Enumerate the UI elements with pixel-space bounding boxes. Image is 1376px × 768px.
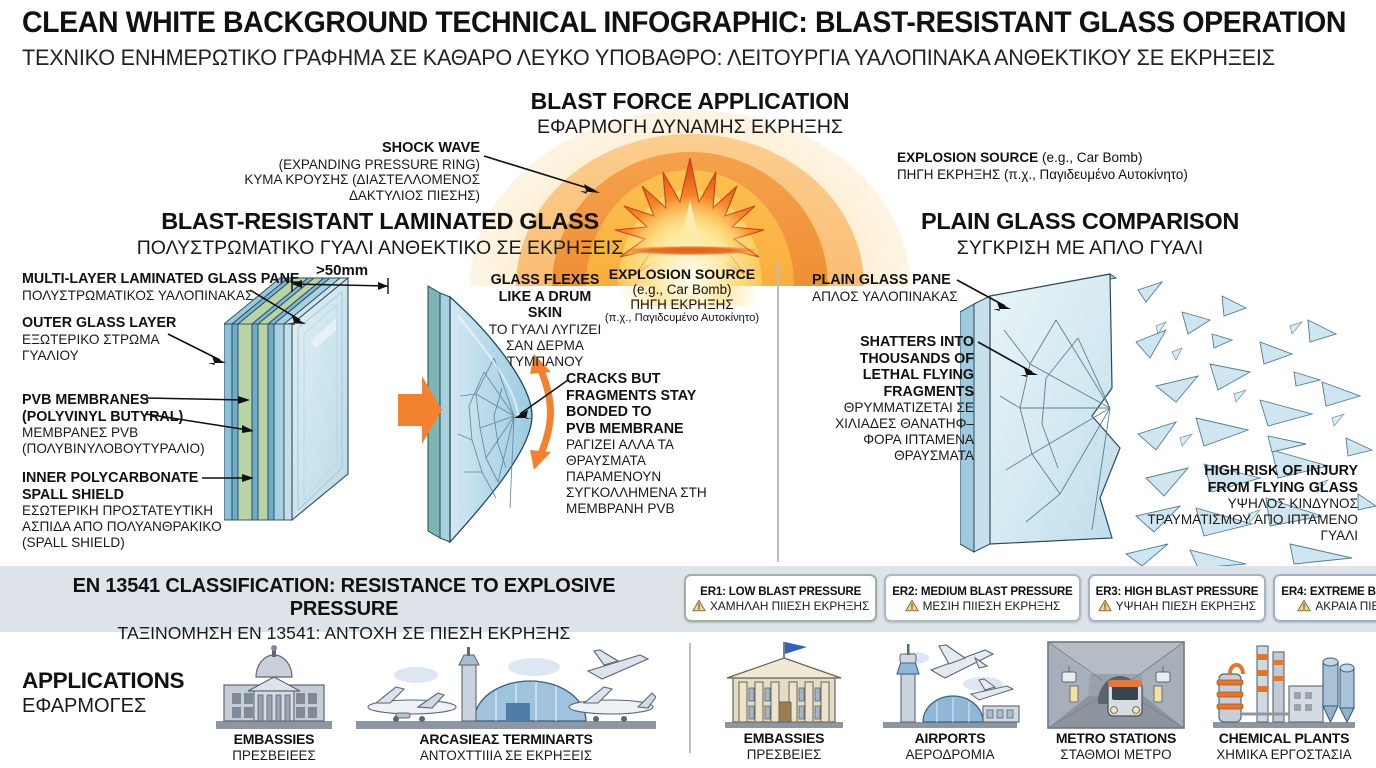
callout-glass-flexes: GLASS FLEXES LIKE A DRUM SKIN ΤΟ ΓΥΑΛΙ Λ… — [481, 272, 609, 370]
application-item-airports[interactable]: AIRPORTS ΑΕΡΟΔΡΟΜΙΑ — [872, 640, 1028, 762]
application-item-terminals[interactable]: ARCASIEAΣ TERMINARTS ΑΝΤΟΧΤΤΙΙΙΑ ΣΕ ΕΚΡΗ… — [348, 645, 664, 763]
application-caption-en: EMBASSIES — [706, 730, 862, 746]
callout-outer-el: ΕΞΩΤΕΡΙΚΟ ΣΤΡΩΜΑ ΓΥΑΛΙΟΥ — [22, 332, 252, 364]
callout-plainpane-en: PLAIN GLASS PANE — [812, 272, 1002, 289]
warning-triangle-icon — [1297, 599, 1311, 612]
application-caption-en: AIRPORTS — [872, 730, 1028, 746]
classification-chip-label-el: ΧΑΜΗΛΑΗ ΠΙΙΕΣΗ ΕΚΡΗΞΗΣ — [710, 599, 869, 613]
warning-triangle-icon — [905, 599, 919, 612]
classification-chip-label-el-row: ΑΚΡΑΙΑ ΠΙΕΣΗ ΕΚΡΗΣΗΕ — [1297, 599, 1376, 613]
classification-title: EN 13541 CLASSIFICATION: RESISTANCE TO E… — [24, 575, 664, 644]
blast-force-title: BLAST FORCE APPLICATION ΕΦΑΡΜΟΓΗ ΔΥΝΑΜΗΣ… — [470, 88, 910, 138]
plain-title-el: ΣΥΓΚΡΙΣΗ ΜΕ ΑΠΛΟ ΓΥΑΛΙ — [800, 237, 1360, 260]
application-caption-el: ΑΝΤΟΧΤΤΙΙΙΑ ΣΕ ΕΚΡΗΞΕΙΣ — [348, 748, 664, 763]
explosion-source-top-callout: EXPLOSION SOURCE (e.g., Car Bomb) ΠΗΓΗ Ε… — [897, 150, 1317, 182]
plain-section-title: PLAIN GLASS COMPARISON ΣΥΓΚΡΙΣΗ ΜΕ ΑΠΛΟ … — [800, 208, 1360, 260]
application-item-embassies-flag[interactable]: EMBASSIES ΠΡΕΣΒΕΙΕΣ — [706, 640, 862, 762]
callout-flex-en: GLASS FLEXES LIKE A DRUM SKIN — [481, 272, 609, 322]
embassy-flag-icon — [717, 640, 851, 730]
blast-force-title-en: BLAST FORCE APPLICATION — [470, 88, 910, 115]
explosion-source-mid-l4: (π.χ., Παγιδcυμένο Αυτοκίνητο) — [592, 312, 772, 324]
blast-force-title-el: ΕΦΑΡΜΟΓΗ ΔΥΝΑΜΗΣ ΕΚΡΗΞΗΣ — [470, 116, 910, 139]
application-item-embassies-dome[interactable]: EMBASSIES ΠΡΕΣΒΕΙΕΕΣ — [196, 645, 352, 763]
callout-shatters-el: ΘΡΥΜΜΑΤΙΖΕΤΑΙ ΣΕ ΧΙΛΙΑΔΕΣ ΘΑΝΑΤΗΦ– ΦΟΡΑ … — [812, 400, 974, 464]
callout-plainpane-el: ΑΠΛΟΣ ΥΑΛΟΠΙΝΑΚΑΣ — [812, 289, 1002, 305]
section-divider-vertical — [777, 262, 779, 562]
callout-inner-en: INNER POLYCARBONATE SPALL SHIELD — [22, 470, 252, 503]
callout-highrisk-en: HIGH RISK OF INJURY FROM FLYING GLASS — [1080, 463, 1358, 496]
shock-wave-en-sub: (EXPANDING PRESSURE RING) — [188, 157, 480, 173]
classification-chip-label-el-row: ΧΑΜΗΛΑΗ ΠΙΙΕΣΗ ΕΚΡΗΞΗΣ — [692, 599, 869, 613]
callout-cracks-bonded: CRACKS BUT FRAGMENTS STAY BONDED TO PVB … — [566, 371, 726, 517]
application-caption-en: ARCASIEAΣ TERMINARTS — [348, 731, 664, 747]
explosion-source-top-en-bold: EXPLOSION SOURCE — [897, 150, 1038, 165]
classification-chip-label-en: ER2: MEDIUM BLAST PRESSURE — [892, 585, 1072, 598]
footer-divider-vertical — [689, 643, 691, 753]
callout-multilayer-el: ΠΟΛΥΣΤΡΩΜΑΤΙΚΟΣ ΥΑΛΟΠΙΝΑΚΑΣ — [22, 288, 312, 304]
shock-wave-el: ΚΥΜΑ ΚΡΟΥΣΗΣ (ΔΙΑΣΤΕΛΛΟΜΕΝΟΣ ΔΑΚΤΥΛΙΟΣ Π… — [188, 172, 480, 203]
application-caption-el: ΑΕΡΟΔΡΟΜΙΑ — [872, 747, 1028, 762]
explosion-source-mid-l3: ΠΗΓΗ ΕΚΡΗΞΗΣ — [592, 297, 772, 312]
application-caption-el: ΧΗΜΙΚΑ ΕΡΓΟΣΤΑΣΙΑ — [1204, 747, 1364, 762]
explosion-source-top-el: ΠΗΓΗ ΕΚΡΗΞΗΣ (π.χ., Παγιδευμένο Αυτοκίνη… — [897, 167, 1317, 183]
chemical-plant-icon — [1209, 640, 1359, 730]
applications-title-el: ΕΦΑΡΜΟΓΕΣ — [22, 695, 222, 718]
classification-chip-er4[interactable]: ER4: EXTREME BLAST PRESSUREΑΚΡΑΙΑ ΠΙΕΣΗ … — [1273, 574, 1376, 622]
classification-chip-er2[interactable]: ER2: MEDIUM BLAST PRESSUREΜΕΣΙΗ ΠΙΙΕΣΗ Ε… — [884, 574, 1080, 622]
classification-chip-er3[interactable]: ER3: HIGH BLAST PRESSUREΥΨΗΑΗ ΠΙΕΣΗ ΕΚΡΗ… — [1088, 574, 1267, 622]
metro-tunnel-icon — [1046, 640, 1186, 730]
embassy-dome-icon — [210, 645, 338, 731]
callout-pvb-en: PVB MEMBRANES (POLYVINYL BUTYRAL) — [22, 392, 252, 425]
explosion-source-top-en-rest: (e.g., Car Bomb) — [1038, 150, 1142, 165]
callout-inner-spall-shield: INNER POLYCARBONATE SPALL SHIELD ΕΣΩΤΕΡΙ… — [22, 470, 252, 551]
infographic-canvas: CLEAN WHITE BACKGROUND TECHNICAL INFOGRA… — [0, 0, 1376, 768]
application-item-metro[interactable]: METRO STATIONS ΣΤΑΘΜΟΙ ΜΕΤΡΟ — [1038, 640, 1194, 762]
application-caption-en: CHEMICAL PLANTS — [1204, 730, 1364, 746]
callout-cracks-el: ΡΑΓΙΖΕΙ ΑΛΛΑ ΤΑ ΘΡΑΥΣΜΑΤΑ ΠΑΡΑΜΕΝΟΥΝ ΣΥΓ… — [566, 437, 726, 517]
callout-pvb-el: ΜΕΜΒΡΑΝΕΣ PVB (ΠΟΛΥΒΙΝΥΛΟΒΟΥΤΥΡΑΛΙΟ) — [22, 425, 252, 457]
classification-chip-list: ER1: LOW BLAST PRESSUREΧΑΜΗΛΑΗ ΠΙΙΕΣΗ ΕΚ… — [684, 574, 1372, 622]
callout-flex-el: ΤΟ ΓΥΑΛΙ ΛΥΓΙΖΕΙ ΣΑΝ ΔΕΡΜΑ ΤΥΜΠΑΝΟΥ — [481, 322, 609, 370]
callout-plain-glass-pane: PLAIN GLASS PANE ΑΠΛΟΣ ΥΑΛΟΠΙΝΑΚΑΣ — [812, 272, 1002, 305]
plain-title-en: PLAIN GLASS COMPARISON — [800, 208, 1360, 235]
classification-chip-label-en: ER3: HIGH BLAST PRESSURE — [1096, 585, 1259, 598]
callout-high-risk: HIGH RISK OF INJURY FROM FLYING GLASS ΥΨ… — [1080, 463, 1358, 544]
warning-triangle-icon — [692, 599, 706, 612]
explosion-source-top-en: EXPLOSION SOURCE (e.g., Car Bomb) — [897, 150, 1317, 166]
application-caption-en: METRO STATIONS — [1038, 730, 1194, 746]
application-caption-el: ΣΤΑΘΜΟΙ ΜΕΤΡΟ — [1038, 747, 1194, 762]
classification-chip-label-en: ER1: LOW BLAST PRESSURE — [700, 585, 861, 598]
callout-shatters-en: SHATTERS INTO THOUSANDS OF LETHAL FLYING… — [812, 334, 974, 400]
callout-cracks-arrow-icon — [506, 378, 572, 426]
callout-multilayer-pane: MULTI-LAYER LAMINATED GLASS PANE ΠΟΛΥΣΤΡ… — [22, 271, 312, 304]
callout-outer-glass: OUTER GLASS LAYER ΕΞΩΤΕΡΙΚΟ ΣΤΡΩΜΑ ΓΥΑΛΙ… — [22, 315, 252, 364]
application-caption-en: EMBASSIES — [196, 731, 352, 747]
callout-pvb-membranes: PVB MEMBRANES (POLYVINYL BUTYRAL) ΜΕΜΒΡΑ… — [22, 392, 252, 457]
callout-shatters: SHATTERS INTO THOUSANDS OF LETHAL FLYING… — [812, 334, 974, 464]
application-item-chemical[interactable]: CHEMICAL PLANTS ΧΗΜΙΚΑ ΕΡΓΟΣΤΑΣΙΑ — [1204, 640, 1364, 762]
explosion-source-mid-l2: (e.g., Car Bomb) — [592, 282, 772, 297]
classification-chip-label-el-row: ΥΨΗΑΗ ΠΙΕΣΗ ΕΚΡΗΞΗΣ — [1098, 599, 1256, 613]
airport-tower-icon — [879, 640, 1021, 730]
callout-multilayer-en: MULTI-LAYER LAMINATED GLASS PANE — [22, 271, 312, 288]
blast-force-arrow-icon — [398, 372, 442, 448]
airport-terminal-icon — [356, 645, 656, 731]
classification-chip-label-el: ΑΚΡΑΙΑ ΠΙΕΣΗ ΕΚΡΗΣΗΕ — [1315, 599, 1376, 613]
page-title: CLEAN WHITE BACKGROUND TECHNICAL INFOGRA… — [0, 0, 1376, 84]
explosion-source-mid-callout: EXPLOSION SOURCE (e.g., Car Bomb) ΠΗΓΗ Ε… — [592, 266, 772, 324]
classification-title-el: ΤΑΞΙΝΟΜΗΣΗ ΕΝ 13541: ΑΝΤΟΧΗ ΣΕ ΠΙΕΣΗ ΕΚΡ… — [24, 623, 664, 643]
explosion-source-mid-l1: EXPLOSION SOURCE — [592, 266, 772, 282]
laminated-title-el: ΠΟΛΥΣΤΡΩΜΑΤΙΚΟ ΓΥΑΛΙ ΑΝΘΕΚΤΙΚΟ ΣΕ ΕΚΡΗΞΕ… — [30, 237, 730, 260]
application-caption-el: ΠΡΕΣΒΕΙΕΕΣ — [196, 748, 352, 763]
callout-shatters-arrow-icon — [976, 340, 1052, 388]
application-caption-el: ΠΡΕΣΒΕΙΕΣ — [706, 747, 862, 762]
applications-title: APPLICATIONS ΕΦΑΡΜΟΓΕΣ — [22, 668, 222, 718]
applications-title-en: APPLICATIONS — [22, 668, 222, 694]
title-english: CLEAN WHITE BACKGROUND TECHNICAL INFOGRA… — [22, 8, 1309, 38]
classification-chip-label-el-row: ΜΕΣΙΗ ΠΙΙΕΣΗ ΕΚΡΗΞΗΣ — [905, 599, 1061, 613]
classification-chip-label-en: ER4: EXTREME BLAST PRESSURE — [1281, 585, 1376, 598]
callout-cracks-en: CRACKS BUT FRAGMENTS STAY BONDED TO PVB … — [566, 371, 726, 437]
callout-outer-en: OUTER GLASS LAYER — [22, 315, 252, 332]
shock-wave-en: SHOCK WAVE — [188, 140, 480, 157]
thickness-dimension-label: >50mm — [316, 262, 368, 279]
classification-chip-er1[interactable]: ER1: LOW BLAST PRESSUREΧΑΜΗΛΑΗ ΠΙΙΕΣΗ ΕΚ… — [684, 574, 877, 622]
laminated-section-title: BLAST-RESISTANT LAMINATED GLASS ΠΟΛΥΣΤΡΩ… — [30, 208, 730, 260]
shock-wave-arrow-icon — [482, 152, 612, 202]
callout-highrisk-el: ΥΨΗΛΟΣ ΚΙΝΔΥΝΟΣ ΤΡΑΥΜΑΤΙΣΜΟΥ ΑΠΟ ΙΠΤΑΜΕΝ… — [1080, 496, 1358, 544]
classification-title-en: EN 13541 CLASSIFICATION: RESISTANCE TO E… — [24, 575, 664, 621]
laminated-title-en: BLAST-RESISTANT LAMINATED GLASS — [30, 208, 730, 235]
classification-chip-label-el: ΥΨΗΑΗ ΠΙΕΣΗ ΕΚΡΗΞΗΣ — [1116, 599, 1256, 613]
shock-wave-callout: SHOCK WAVE (EXPANDING PRESSURE RING) ΚΥΜ… — [188, 140, 480, 203]
callout-inner-el: ΕΣΩΤΕΡΙΚΗ ΠΡΟΣΤΑΤΕΥΤΙΚΗ ΑΣΠΙΔΑ ΑΠΟ ΠΟΛΥΑ… — [22, 503, 252, 551]
title-greek: ΤΕΧΝΙΚΟ ΕΝΗΜΕΡΩΤΙΚΟ ΓΡΑΦΗΜΑ ΣΕ ΚΑΘΑΡΟ ΛΕ… — [22, 45, 1303, 71]
warning-triangle-icon — [1098, 599, 1112, 612]
classification-chip-label-el: ΜΕΣΙΗ ΠΙΙΕΣΗ ΕΚΡΗΞΗΣ — [923, 599, 1061, 613]
